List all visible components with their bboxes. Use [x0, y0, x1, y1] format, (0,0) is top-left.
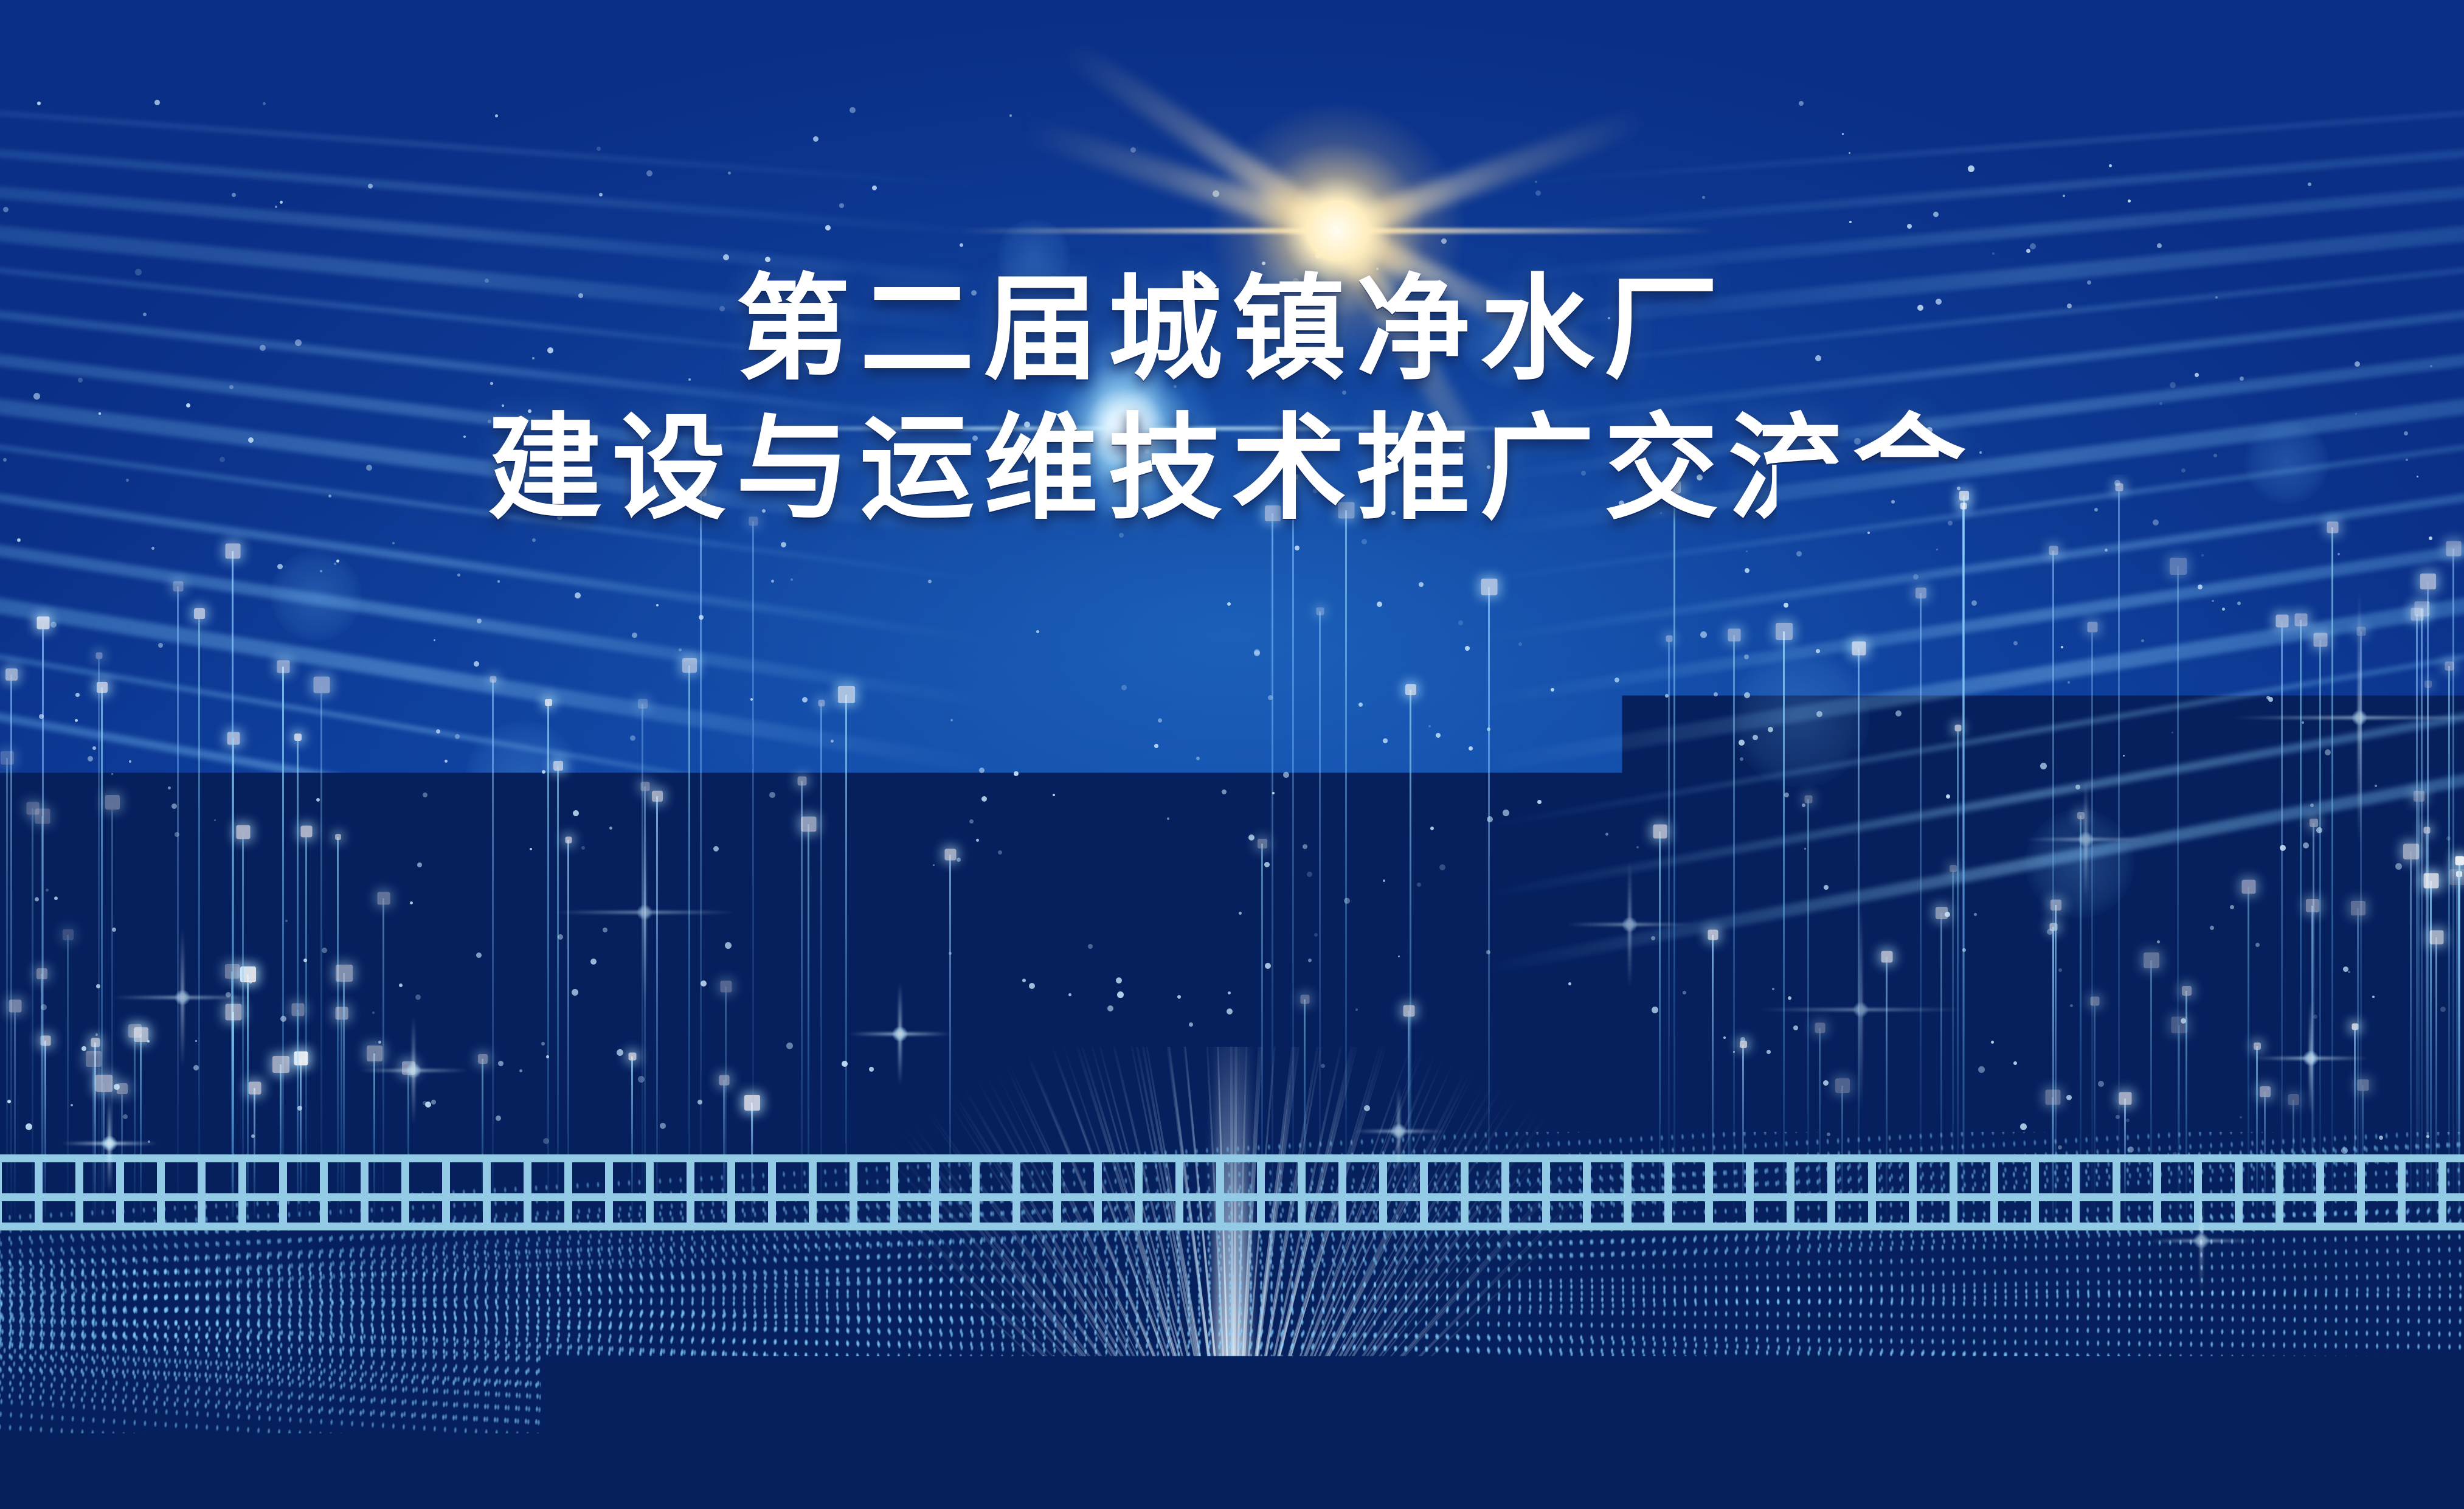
location-label: 中国·南通 [0, 1260, 2464, 1333]
date-badge: 2024年7月12-14日 [921, 1124, 1543, 1230]
organizer-name: 南通水务集团有限公司 [1144, 731, 1661, 799]
organizer-row: 承办单位：亚太建设科技信息研究院有限公司 [0, 934, 2464, 1002]
title-line-1: 第二届城镇净水厂 [0, 268, 2464, 391]
organizer-role-label: 协办单位： [804, 731, 1144, 799]
organizer-name: 亚太建设科技信息研究院有限公司 [1015, 934, 1789, 1002]
conference-poster: 第二届城镇净水厂 建设与运维技术推广交流会 主办单位：《给水排水》杂志社协办单位… [0, 0, 2464, 1509]
organizer-row: 上海威派格智慧水务股份有限公司 [0, 799, 2464, 867]
organizer-role-label: 主办单位： [829, 663, 1170, 731]
organizer-name: 江苏派菲克智慧水务有限公司 [1067, 867, 1737, 935]
organizer-name: 《给水排水》杂志社 [1170, 663, 1635, 731]
title-line-2: 建设与运维技术推广交流会 [0, 407, 2464, 530]
organizer-row: 主办单位：《给水排水》杂志社 [0, 663, 2464, 731]
organizer-row: 协办单位：南通水务集团有限公司 [0, 731, 2464, 799]
organizer-role-label: 承办单位： [674, 934, 1015, 1002]
organizer-name: 上海威派格智慧水务股份有限公司 [1015, 799, 1789, 867]
organizer-block: 主办单位：《给水排水》杂志社协办单位：南通水务集团有限公司上海威派格智慧水务股份… [0, 663, 2464, 1002]
poster-title: 第二届城镇净水厂 建设与运维技术推广交流会 [0, 268, 2464, 530]
date-badge-label: 2024年7月12-14日 [974, 1134, 1491, 1217]
poster-content: 第二届城镇净水厂 建设与运维技术推广交流会 主办单位：《给水排水》杂志社协办单位… [0, 0, 2464, 1509]
organizer-row: 江苏派菲克智慧水务有限公司 [0, 867, 2464, 935]
